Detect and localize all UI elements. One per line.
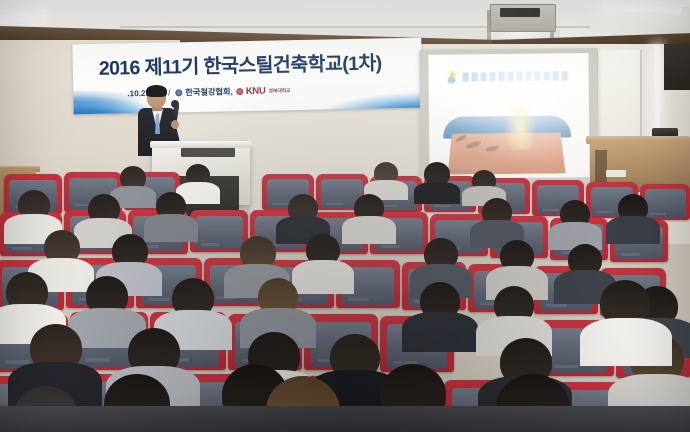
seat [190, 210, 248, 252]
podium-top-surface [150, 141, 252, 148]
auditorium-seating [0, 168, 690, 432]
podium-document [181, 148, 235, 157]
speaker-hair [146, 85, 167, 97]
projection-screen [419, 48, 598, 185]
slide-glare [503, 94, 538, 150]
seat [640, 184, 690, 220]
banner-title: 2016 제11기 한국스틸건축학교(1차) [99, 46, 409, 81]
floor [0, 406, 690, 432]
seminar-photograph: 2016 제11기 한국스틸건축학교(1차) .10.25(화) / 한국철강협… [0, 0, 690, 432]
speaker-hand [171, 120, 179, 129]
slide-heading-text [463, 71, 568, 81]
projector-lens [500, 8, 540, 17]
slide-logo-dot [448, 77, 456, 84]
kosa-emblem-icon [175, 89, 182, 96]
projection-surface [428, 53, 589, 179]
banner-partner-mark: KNU [246, 85, 266, 96]
slide-logo-icon [447, 71, 458, 84]
microphone-head [171, 100, 179, 108]
banner-partner-name: 경북대학교 [268, 87, 290, 94]
wall-right-recess [664, 44, 690, 90]
banner-organizer: 한국철강협회, [185, 85, 233, 98]
event-banner: 2016 제11기 한국스틸건축학교(1차) .10.25(화) / 한국철강협… [72, 38, 422, 115]
knu-emblem-icon [236, 88, 243, 95]
